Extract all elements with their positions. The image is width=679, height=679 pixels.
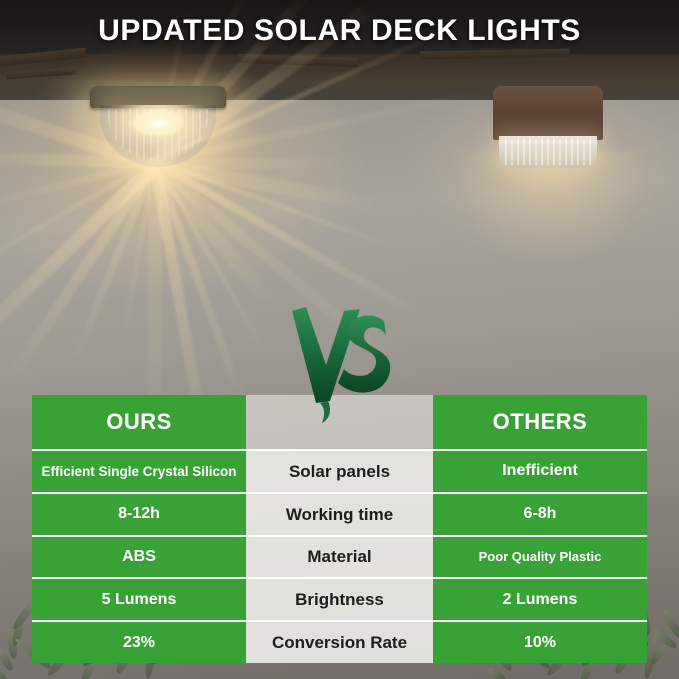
lamp-hotspot <box>132 110 184 136</box>
competitor-deck-light-right <box>487 86 609 170</box>
table-row: ABS <box>32 535 246 578</box>
table-row: Working time <box>246 492 433 535</box>
table-row: Brightness <box>246 577 433 620</box>
table-row: 6-8h <box>433 492 647 535</box>
table-row: Efficient Single Crystal Silicon <box>32 449 246 492</box>
table-row: Solar panels <box>246 449 433 492</box>
table-row: 10% <box>433 620 647 663</box>
table-row: Inefficient <box>433 449 647 492</box>
table-row: 5 Lumens <box>32 577 246 620</box>
table-row: 8-12h <box>32 492 246 535</box>
vs-badge <box>286 305 394 425</box>
table-header-others: OTHERS <box>433 395 647 449</box>
product-comparison-image: UPDATED SOLAR DECK LIGHTS OURS OTHERS Ef… <box>0 0 679 679</box>
competitor-lamp-dome <box>499 136 597 168</box>
table-row: 23% <box>32 620 246 663</box>
table-row: 2 Lumens <box>433 577 647 620</box>
table-row: Material <box>246 535 433 578</box>
solar-deck-light-left <box>88 86 228 166</box>
comparison-table: OURS OTHERS Efficient Single Crystal Sil… <box>32 395 647 663</box>
table-header-ours: OURS <box>32 395 246 449</box>
page-title: UPDATED SOLAR DECK LIGHTS <box>0 14 679 48</box>
table-row: Poor Quality Plastic <box>433 535 647 578</box>
table-row: Conversion Rate <box>246 620 433 663</box>
competitor-lamp-body <box>493 86 603 140</box>
